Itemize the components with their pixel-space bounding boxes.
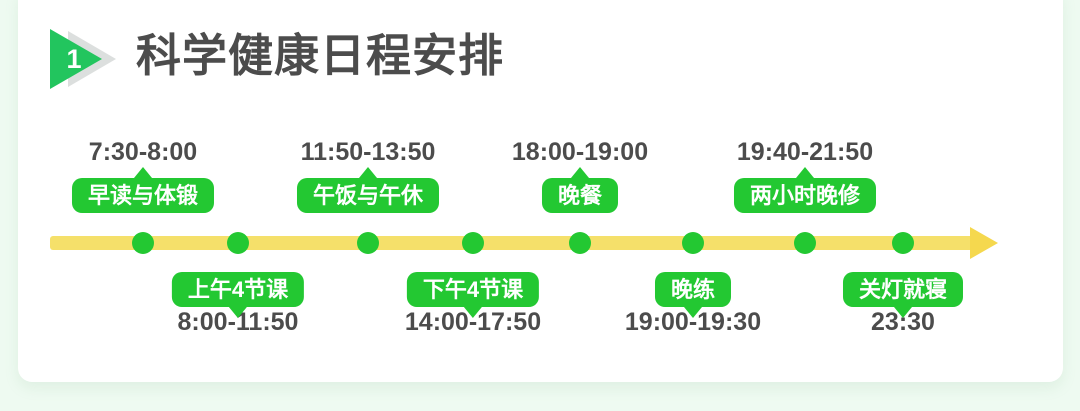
timeline-item-label: 晚练 <box>671 277 715 302</box>
timeline-item-label: 下午4节课 <box>423 277 523 302</box>
step-number-badge: 1 <box>50 28 124 90</box>
step-number-label: 1 <box>61 42 87 76</box>
timeline-axis <box>50 236 975 250</box>
timeline-item-label: 午饭与午休 <box>313 183 423 208</box>
page-title: 科学健康日程安排 <box>136 21 504 91</box>
timeline-dot <box>682 232 704 254</box>
timeline-dot <box>569 232 591 254</box>
timeline-item-pill[interactable]: 下午4节课 <box>407 272 539 307</box>
timeline-item-pill[interactable]: 两小时晚修 <box>734 178 876 213</box>
timeline-dot <box>892 232 914 254</box>
timeline-item-label: 上午4节课 <box>188 277 288 302</box>
timeline-item-time: 18:00-19:00 <box>512 138 648 167</box>
timeline-item-pill[interactable]: 午饭与午休 <box>297 178 439 213</box>
timeline-item-label: 早读与体锻 <box>88 183 198 208</box>
timeline-item-time: 11:50-13:50 <box>301 138 436 167</box>
timeline-dot <box>132 232 154 254</box>
pill-tail-icon <box>894 307 912 318</box>
pill-tail-icon <box>229 307 247 318</box>
timeline-item-pill[interactable]: 晚餐 <box>542 178 618 213</box>
timeline-item-time: 19:40-21:50 <box>737 138 873 167</box>
timeline-item-pill[interactable]: 晚练 <box>655 272 731 307</box>
timeline-item-pill[interactable]: 关灯就寝 <box>843 272 963 307</box>
timeline-item-label: 晚餐 <box>558 183 602 208</box>
timeline-item-label: 两小时晚修 <box>750 183 860 208</box>
timeline-dot <box>462 232 484 254</box>
pill-tail-icon <box>684 307 702 318</box>
timeline-dot <box>357 232 379 254</box>
timeline-item-time: 7:30-8:00 <box>89 138 197 167</box>
timeline-item-pill[interactable]: 上午4节课 <box>172 272 304 307</box>
timeline-item-pill[interactable]: 早读与体锻 <box>72 178 214 213</box>
pill-tail-icon <box>359 167 377 178</box>
schedule-infographic: 1 科学健康日程安排 7:30-8:00早读与体锻8:00-11:50上午4节课… <box>0 0 1080 411</box>
pill-tail-icon <box>464 307 482 318</box>
timeline-dot <box>794 232 816 254</box>
timeline-dot <box>227 232 249 254</box>
timeline-item-label: 关灯就寝 <box>859 277 947 302</box>
pill-tail-icon <box>571 167 589 178</box>
pill-tail-icon <box>796 167 814 178</box>
pill-tail-icon <box>134 167 152 178</box>
timeline-arrow-icon <box>970 227 998 259</box>
